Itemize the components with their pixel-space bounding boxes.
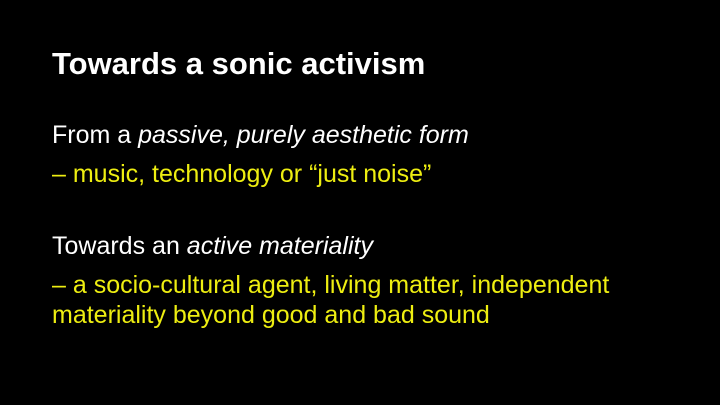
from-white-line-emphasis: passive, purely aesthetic form bbox=[138, 121, 469, 149]
content-block-from: From a passive, purely aesthetic form – … bbox=[52, 120, 684, 189]
content-block-towards: Towards an active materiality – a socio-… bbox=[52, 231, 684, 355]
towards-white-line-lead: Towards an bbox=[52, 232, 187, 260]
from-yellow-line: – music, technology or “just noise” bbox=[52, 159, 684, 189]
page-title: Towards a sonic activism bbox=[52, 45, 682, 83]
towards-white-line-emphasis: active materiality bbox=[187, 232, 373, 260]
slide-canvas: Towards a sonic activism From a passive,… bbox=[0, 0, 720, 405]
towards-white-line: Towards an active materiality bbox=[52, 231, 684, 261]
from-white-line: From a passive, purely aesthetic form bbox=[52, 120, 684, 150]
from-white-line-lead: From a bbox=[52, 121, 138, 149]
towards-yellow-paragraph: – a socio-cultural agent, living matter,… bbox=[52, 270, 684, 330]
